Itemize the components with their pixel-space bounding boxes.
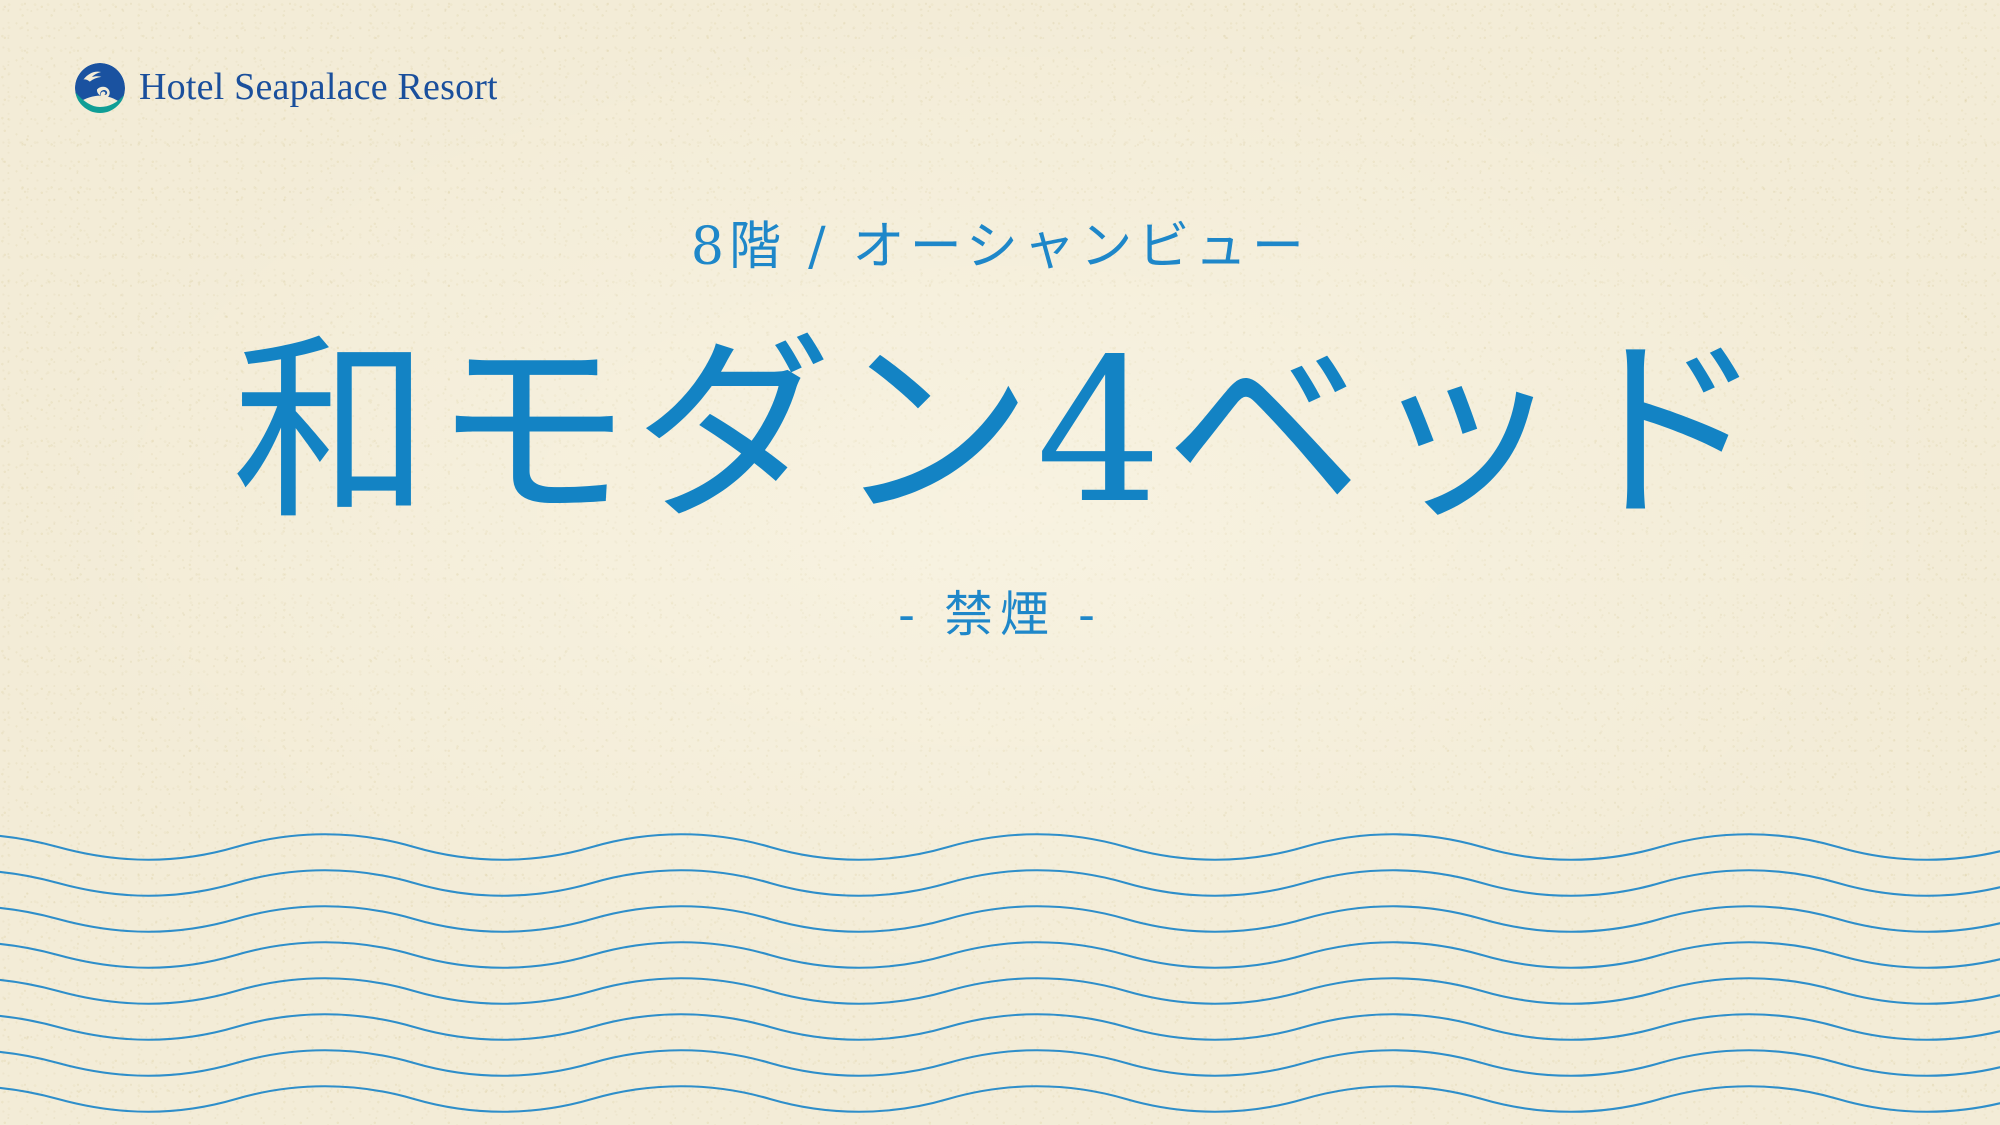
room-subtitle: 8階 / オーシャンビュー xyxy=(691,221,1309,273)
room-title-card: Hotel Seapalace Resort 8階 / オーシャンビュー 和モダ… xyxy=(0,0,2000,1125)
smoking-policy-label: - 禁煙 - xyxy=(898,590,1101,639)
ocean-wave-lines-decoration xyxy=(0,825,2000,1125)
room-title: 和モダン4ベッド xyxy=(232,331,1768,533)
hero-block: 8階 / オーシャンビュー 和モダン4ベッド - 禁煙 - xyxy=(0,0,2000,860)
